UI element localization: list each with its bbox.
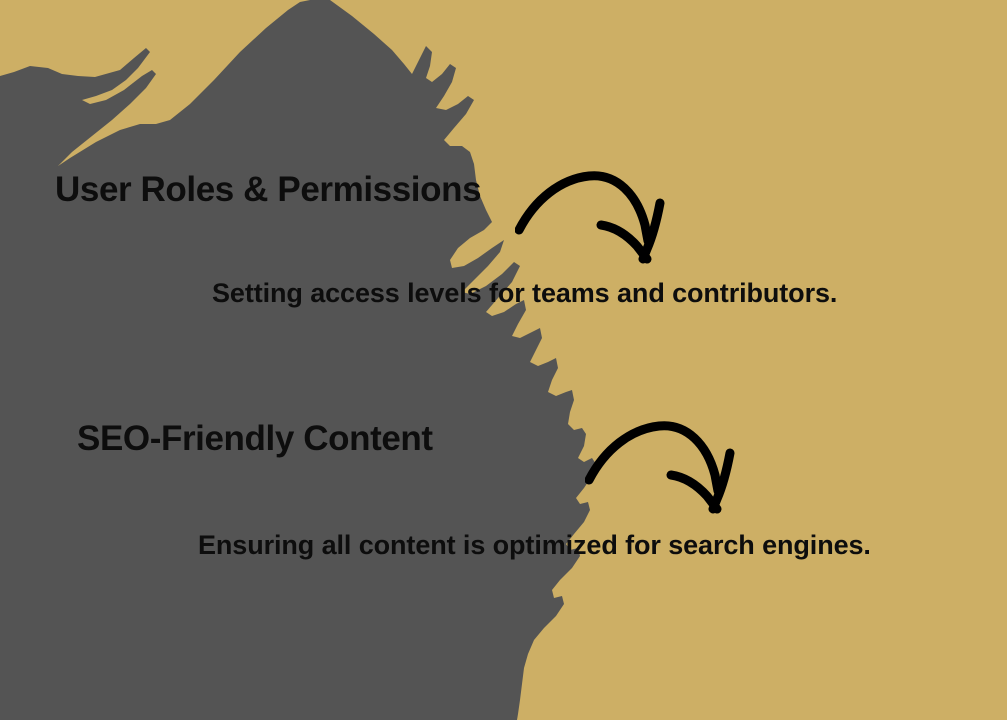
curved-arrow-1-icon — [515, 163, 665, 268]
curved-arrow-2-icon — [585, 413, 735, 518]
feature-heading-1: User Roles & Permissions — [55, 172, 481, 207]
feature-description-1: Setting access levels for teams and cont… — [212, 280, 837, 307]
feature-description-2: Ensuring all content is optimized for se… — [198, 532, 871, 559]
slide-canvas: User Roles & Permissions Setting access … — [0, 0, 1007, 720]
feature-heading-2: SEO-Friendly Content — [77, 421, 433, 456]
content-layer: User Roles & Permissions Setting access … — [0, 0, 1007, 720]
